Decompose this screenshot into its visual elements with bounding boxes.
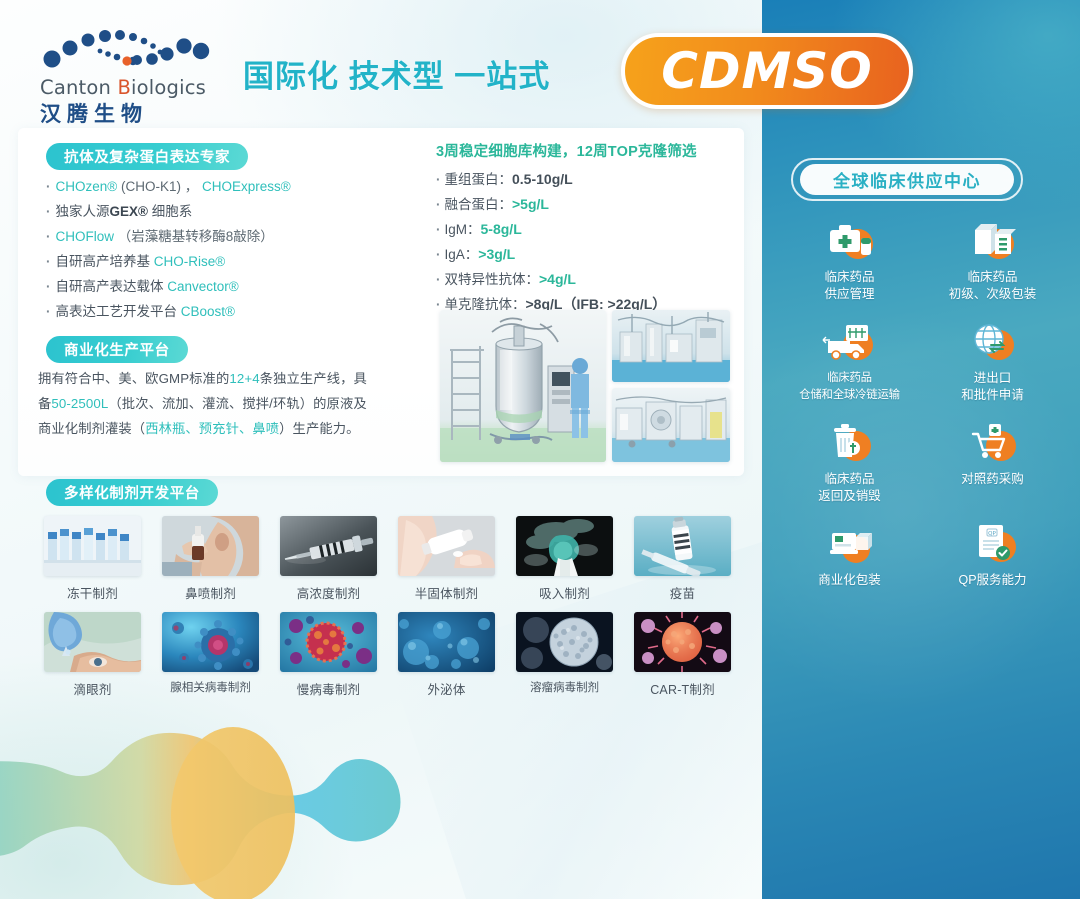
brochure-page: Canton Biologics 汉腾生物 国际化 技术型 一站式 抗体及复杂蛋…	[0, 0, 1080, 899]
page-headline: 国际化 技术型 一站式	[243, 51, 550, 96]
left-panel: Canton Biologics 汉腾生物 国际化 技术型 一站式 抗体及复杂蛋…	[0, 0, 762, 899]
orange-accent-dot	[122, 56, 131, 65]
cdmso-badge: CDMSO	[621, 33, 913, 109]
service-item-qp-services[interactable]: QP QP服务能力	[921, 521, 1064, 589]
service-label: 临床药品 供应管理	[824, 269, 874, 303]
formulation-item-oncolytic-virus[interactable]: 溶瘤病毒制剂	[516, 612, 613, 698]
service-item-primary-secondary-packaging[interactable]: 临床药品 初级、次级包装	[921, 218, 1064, 303]
thumbnail-cream-tube-hand	[398, 516, 495, 576]
formulation-item-inhalation[interactable]: 吸入制剂	[516, 516, 613, 602]
list-item: 重组蛋白：0.5-10g/L	[436, 168, 736, 191]
list-item: 双特异性抗体：>4g/L	[436, 268, 736, 291]
service-label: 临床药品 初级、次级包装	[949, 269, 1037, 303]
thumbnail-inhaler-mask-mist	[516, 516, 613, 576]
antibody-bullet-list: CHOzen® (CHO-K1) ， CHOExpress® 独家人源GEX® …	[46, 176, 406, 326]
service-grid: 临床药品 供应管理	[778, 218, 1064, 605]
decorative-wave-blobs	[0, 715, 628, 899]
list-item: CHOFlow （岩藻糖基转移酶8敲除）	[46, 226, 406, 248]
service-label: 临床药品 仓储和全球冷链运输	[799, 370, 900, 404]
formulation-label: 腺相关病毒制剂	[162, 679, 259, 695]
list-item: 自研高产培养基 CHO-Rise®	[46, 251, 406, 273]
photo-filling-line	[612, 388, 730, 462]
service-label: 对照药采购	[961, 471, 1024, 488]
formulation-label: 外泌体	[398, 679, 495, 698]
facility-photo-collage	[440, 310, 730, 462]
formulation-item-car-t[interactable]: CAR-T制剂	[634, 612, 731, 698]
paragraph-line-2: 备50-2500L（批次、流加、灌流、搅拌/环轨）的原液及	[38, 391, 428, 416]
thumbnail-aav-virus-blue	[162, 612, 259, 672]
boxes-packaging-icon	[965, 218, 1021, 262]
service-label: 临床药品 返回及销毁	[818, 471, 881, 505]
service-item-commercial-packaging[interactable]: 商业化包装	[778, 521, 921, 589]
thumbnail-nasal-spray-person	[162, 516, 259, 576]
service-item-return-destruction[interactable]: 临床药品 返回及销毁	[778, 420, 921, 505]
thumbnail-exosome-blue	[398, 612, 495, 672]
medical-kit-icon	[822, 218, 878, 262]
logo-english-name: Canton Biologics	[40, 76, 210, 99]
cold-chain-truck-icon	[822, 319, 878, 363]
list-item: IgA：>3g/L	[436, 243, 736, 266]
company-logo: Canton Biologics 汉腾生物	[38, 24, 210, 124]
paragraph-line-3: 商业化制剂灌装（西林瓶、预充针、鼻喷）生产能力。	[38, 416, 428, 441]
thumbnail-eye-drop-bottle	[44, 612, 141, 672]
list-item: 融合蛋白：>5g/L	[436, 193, 736, 216]
right-panel: 全球临床供应中心	[762, 0, 1080, 899]
thumbnail-vaccine-vial-syringe	[634, 516, 731, 576]
pill-commercial-platform: 商业化生产平台	[46, 336, 188, 363]
service-item-supply-management[interactable]: 临床药品 供应管理	[778, 218, 921, 303]
thumbnail-lentivirus-red	[280, 612, 377, 672]
list-item: CHOzen® (CHO-K1) ， CHOExpress®	[46, 176, 406, 198]
photo-cleanroom-equipment	[612, 310, 730, 382]
list-item: IgM：5-8g/L	[436, 218, 736, 241]
service-label: 商业化包装	[818, 572, 881, 589]
paragraph-line-1: 拥有符合中、美、欧GMP标准的12+4条独立生产线，具	[38, 366, 428, 391]
thumbnail-cart-cell-pink	[634, 612, 731, 672]
service-row-4: 商业化包装 QP	[778, 521, 1064, 589]
global-clinical-supply-title-text: 全球临床供应中心	[833, 167, 981, 192]
thumbnail-vials-freeze-dried	[44, 516, 141, 576]
spec-title: 3周稳定细胞库构建，12周TOP克隆筛选	[436, 140, 736, 161]
formulation-label: 半固体制剂	[398, 583, 495, 602]
formulation-label: CAR-T制剂	[634, 679, 731, 698]
formulation-item-high-concentration[interactable]: 高浓度制剂	[280, 516, 377, 602]
service-row-2: 临床药品 仓储和全球冷链运输	[778, 319, 1064, 404]
formulation-item-exosome[interactable]: 外泌体	[398, 612, 495, 698]
formulation-label: 高浓度制剂	[280, 583, 377, 602]
formulation-item-vaccine[interactable]: 疫苗	[634, 516, 731, 602]
formulation-label: 慢病毒制剂	[280, 679, 377, 698]
cell-line-spec-block: 3周稳定细胞库构建，12周TOP克隆筛选 重组蛋白：0.5-10g/L 融合蛋白…	[436, 140, 736, 318]
service-label: 进出口 和批件申请	[961, 370, 1024, 404]
list-item: 独家人源GEX® 细胞系	[46, 201, 406, 223]
formulation-item-nasal-spray[interactable]: 鼻喷制剂	[162, 516, 259, 602]
qp-document-icon: QP	[965, 521, 1021, 565]
service-row-3: 临床药品 返回及销毁	[778, 420, 1064, 505]
formulation-item-lentivirus[interactable]: 慢病毒制剂	[280, 612, 377, 698]
commercial-paragraph: 拥有符合中、美、欧GMP标准的12+4条独立生产线，具 备50-2500L（批次…	[38, 366, 428, 441]
thumbnail-syringe-dark	[280, 516, 377, 576]
pill-antibody-expert: 抗体及复杂蛋白表达专家	[46, 143, 248, 170]
globe-import-export-icon	[965, 319, 1021, 363]
formulation-label: 疫苗	[634, 583, 731, 602]
formulation-row-2: 滴眼剂	[44, 612, 744, 698]
formulation-grid: 冻干制剂	[44, 516, 744, 708]
photo-bioreactor-operator	[440, 310, 606, 462]
service-item-cold-chain[interactable]: 临床药品 仓储和全球冷链运输	[778, 319, 921, 404]
service-item-import-export[interactable]: 进出口 和批件申请	[921, 319, 1064, 404]
formulation-row-1: 冻干制剂	[44, 516, 744, 602]
service-row-1: 临床药品 供应管理	[778, 218, 1064, 303]
thumbnail-oncolytic-virus-grey	[516, 612, 613, 672]
commercial-box-icon	[822, 521, 878, 565]
formulation-label: 冻干制剂	[44, 583, 141, 602]
formulation-item-semisolid[interactable]: 半固体制剂	[398, 516, 495, 602]
formulation-label: 溶瘤病毒制剂	[516, 679, 613, 695]
service-label: QP服务能力	[958, 572, 1026, 589]
svg-text:QP: QP	[988, 531, 996, 537]
service-item-comparator-sourcing[interactable]: 对照药采购	[921, 420, 1064, 505]
formulation-item-aav[interactable]: 腺相关病毒制剂	[162, 612, 259, 698]
formulation-item-eye-drops[interactable]: 滴眼剂	[44, 612, 141, 698]
dna-helix-dots-logo-icon	[38, 24, 210, 80]
list-item: 高表达工艺开发平台 CBoost®	[46, 301, 406, 323]
formulation-label: 吸入制剂	[516, 583, 613, 602]
logo-chinese-name: 汉腾生物	[40, 98, 210, 128]
formulation-item-freeze-dried[interactable]: 冻干制剂	[44, 516, 141, 602]
trash-destroy-icon	[822, 420, 878, 464]
formulation-label: 滴眼剂	[44, 679, 141, 698]
cdmso-badge-text: CDMSO	[661, 42, 872, 100]
shopping-cart-icon	[965, 420, 1021, 464]
global-clinical-supply-title: 全球临床供应中心	[791, 158, 1023, 201]
list-item: 自研高产表达载体 Canvector®	[46, 276, 406, 298]
pill-formulation-platform: 多样化制剂开发平台	[46, 479, 218, 506]
formulation-label: 鼻喷制剂	[162, 583, 259, 602]
